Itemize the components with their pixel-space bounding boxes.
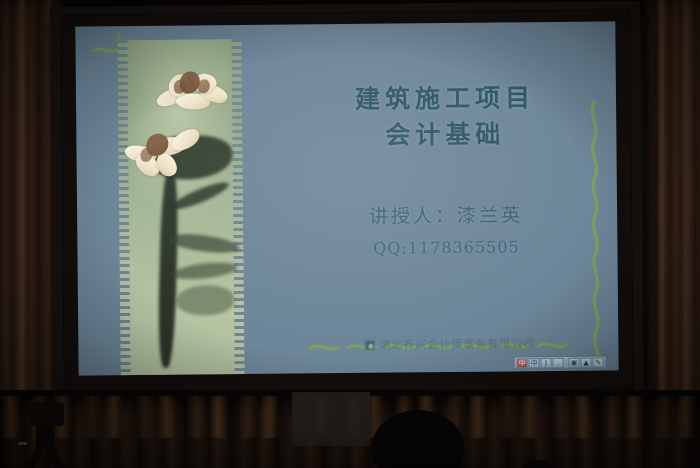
logo-square-icon [364, 339, 375, 350]
slide-subtitle: 讲授人：漆兰英 QQ:1178365505 [305, 200, 588, 259]
slide-title: 建筑施工项目 会计基础 [304, 80, 587, 154]
title-line-2: 会计基础 [304, 115, 586, 153]
equipment-glint [18, 442, 27, 445]
ime-fullwidth-button[interactable]: J [541, 358, 552, 368]
ime-settings-button[interactable]: ✎ [593, 357, 604, 367]
projector-screen-frame: 建筑施工项目 会计基础 讲授人：漆兰英 QQ:1178365505 湖北齐兴会计… [50, 1, 644, 403]
stage-wall-panel [292, 392, 370, 446]
ink-leaf-lower [176, 285, 234, 316]
chinese-ime-toolbar[interactable]: 中 中 J , ▣ ▲ ✎ [513, 356, 606, 370]
company-watermark: 湖北齐兴会计师事务有限公司 [364, 335, 535, 353]
ime-punctuation-button[interactable]: , [553, 357, 564, 367]
presenter-name: 讲授人：漆兰英 [305, 200, 587, 230]
presentation-slide: 建筑施工项目 会计基础 讲授人：漆兰英 QQ:1178365505 湖北齐兴会计… [75, 21, 618, 375]
lotus-blossom-upper [154, 67, 230, 116]
ime-logo-button[interactable]: 中 [517, 358, 528, 368]
tripod-legs [22, 438, 68, 468]
stage-curtain-area [0, 390, 700, 468]
vine-right-decoration [586, 100, 605, 368]
auditorium-scene: 建筑施工项目 会计基础 讲授人：漆兰英 QQ:1178365505 湖北齐兴会计… [0, 0, 700, 468]
lotus-ink-painting [117, 39, 244, 376]
qq-number: QQ:1178365505 [305, 237, 587, 259]
lotus-blossom-lower [124, 117, 209, 176]
ime-mode-chinese-button[interactable]: 中 [529, 358, 540, 368]
camera-tripod-silhouette [14, 398, 76, 468]
slide-canvas: 建筑施工项目 会计基础 讲授人：漆兰英 QQ:1178365505 湖北齐兴会计… [75, 21, 618, 375]
ime-toolbox-button[interactable]: ▲ [581, 357, 592, 367]
projector-screen-bezel: 建筑施工项目 会计基础 讲授人：漆兰英 QQ:1178365505 湖北齐兴会计… [60, 9, 634, 394]
title-line-1: 建筑施工项目 [304, 80, 586, 118]
ime-softkeyboard-button[interactable]: ▣ [569, 357, 580, 367]
company-name: 湖北齐兴会计师事务有限公司 [379, 335, 535, 352]
